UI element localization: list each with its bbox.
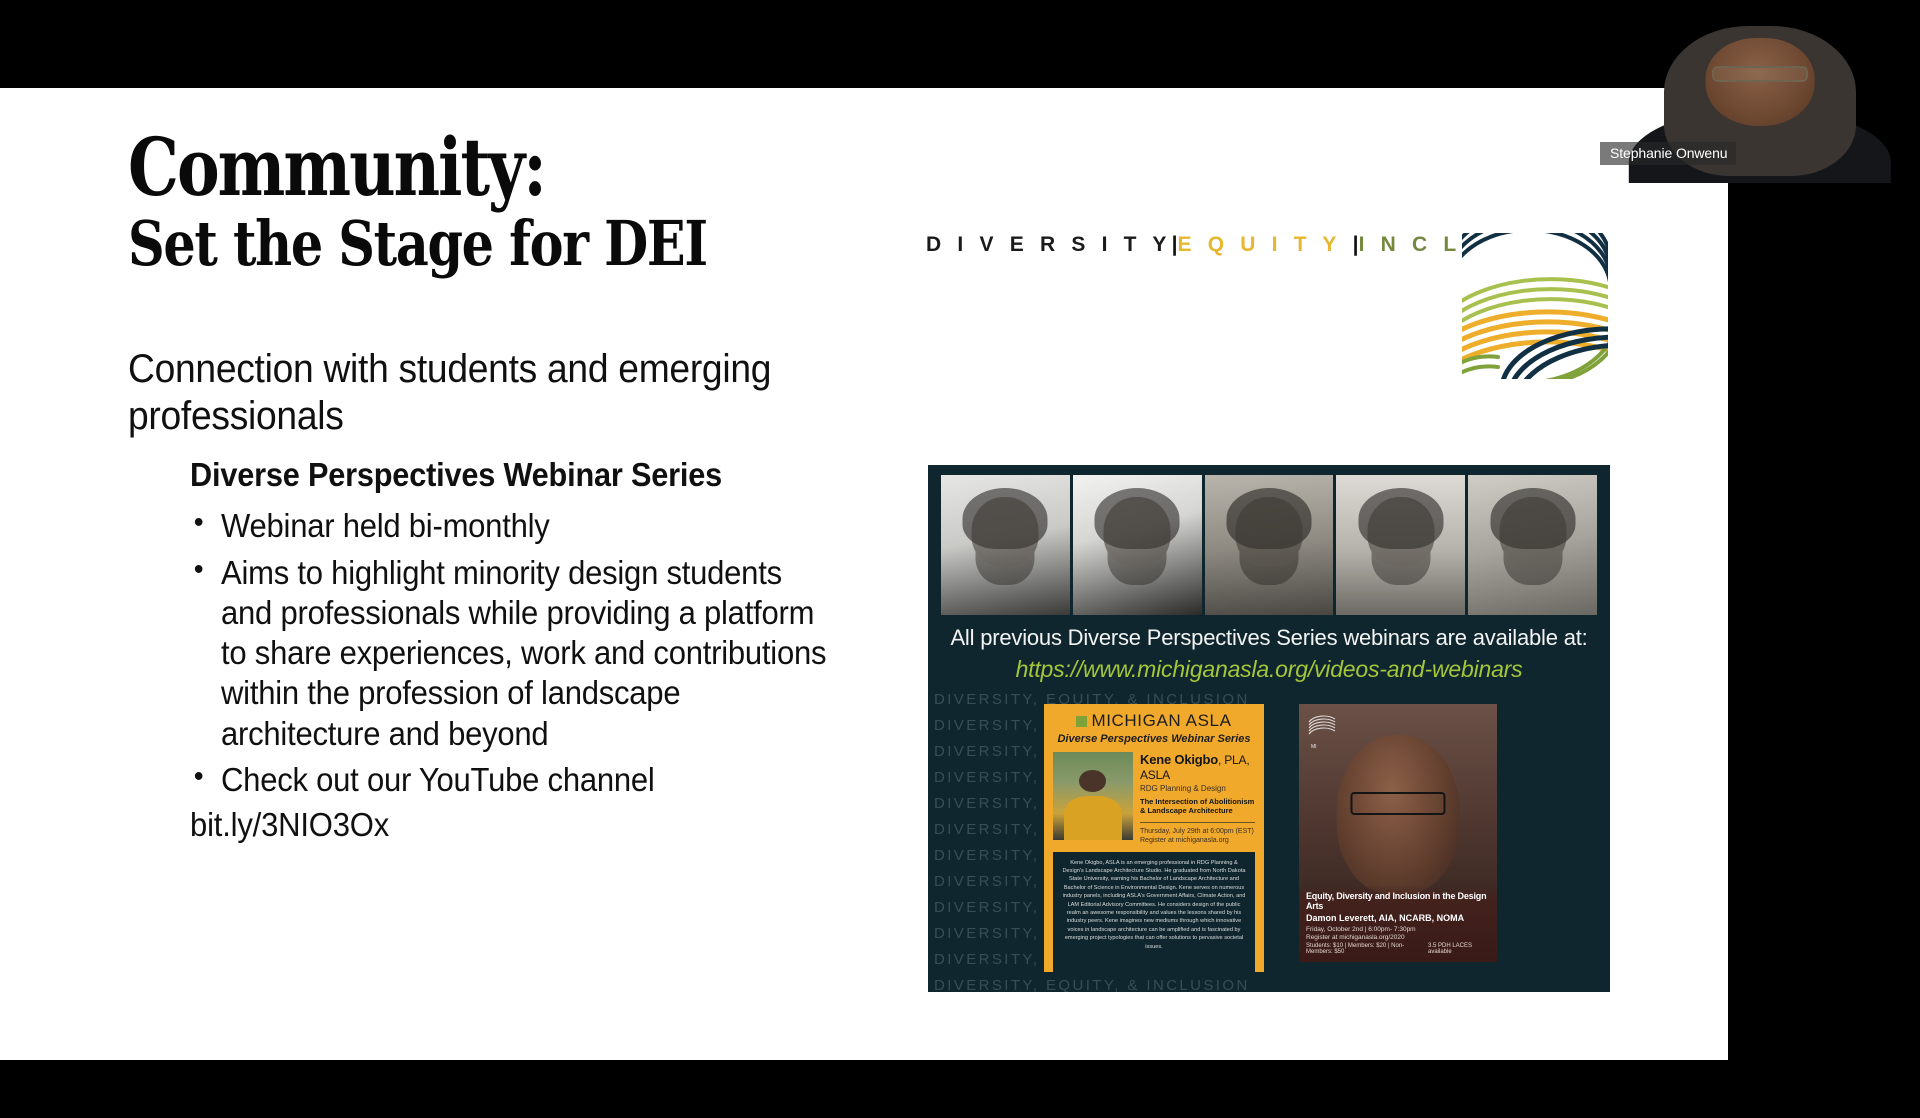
kene-okigbo-webinar-card: MICHIGAN ASLA Diverse Perspectives Webin… [1044,704,1264,972]
divider [1140,822,1255,823]
watermark-row: DIVERSITY, EQUITY, & INCLUSION [934,947,1610,973]
list-item: Check out our YouTube channel [190,760,829,800]
event-register: Register at michiganasla.org [1140,836,1255,845]
watermark-row: DIVERSITY, EQUITY, & INCLUSION [934,895,1610,921]
flyer-url: https://www.michiganasla.org/videos-and-… [928,656,1610,683]
speaker-bio: Kene Okigbo, ASLA is an emerging profess… [1053,852,1255,972]
watermark-row: DIVERSITY, EQUITY, & INCLUSION [934,843,1610,869]
wordmark-equity: E Q U I T Y [1177,233,1341,256]
watermark-row: DIVERSITY, EQUITY, & INCLUSION [934,973,1610,992]
speaker-name: Damon Leverett, AIA, NCARB, NOMA [1306,913,1490,923]
watermark-row: DIVERSITY, EQUITY, & INCLUSION [934,817,1610,843]
michigan-asla-logo-icon [1462,233,1608,379]
participant-face [1706,38,1815,126]
speaker-portrait [1337,735,1460,895]
event-datetime: Thursday, July 29th at 6:00pm (EST) [1140,827,1255,836]
slide-canvas: Community: Set the Stage for DEI Connect… [0,88,1728,1060]
list-item: Webinar held bi-monthly [190,506,829,546]
mi-logo-label: MI [1311,744,1317,750]
watermark-row: DIVERSITY, EQUITY, & INCLUSION [934,869,1610,895]
body-sub-heading: Diverse Perspectives Webinar Series [190,456,839,494]
watermark-row: DIVERSITY, EQUITY, & INCLUSION [934,791,1610,817]
flyer-watermark: DIVERSITY, EQUITY, & INCLUSIONDIVERSITY,… [928,687,1610,992]
shortlink-text: bit.ly/3NIO3Ox [190,806,846,844]
headshot [1468,475,1597,615]
headshot [1205,475,1334,615]
page-title: Community: [128,128,752,206]
watermark-row: DIVERSITY, EQUITY, & INCLUSION [934,765,1610,791]
speaker-topic: The Intersection of Abolitionism & Lands… [1140,797,1255,816]
flyer-caption: All previous Diverse Perspectives Series… [928,625,1610,683]
participant-name-label: Stephanie Onwenu [1600,142,1736,165]
bullet-list: Webinar held bi-monthly Aims to highligh… [190,506,888,800]
headshot [941,475,1070,615]
glasses-icon [1712,66,1808,82]
list-item: Aims to highlight minority design studen… [190,553,829,754]
headshot [1073,475,1202,615]
speaker-info: Kene Okigbo, PLA, ASLA RDG Planning & De… [1140,752,1255,846]
lead-paragraph: Connection with students and emerging pr… [128,346,835,440]
participant-video-tile[interactable]: Stephanie Onwenu [1600,0,1920,183]
diverse-perspectives-flyer-image: All previous Diverse Perspectives Series… [928,465,1610,992]
glasses-icon [1350,792,1445,815]
speaker-firm: RDG Planning & Design [1140,784,1255,793]
michigan-asla-brand: MICHIGAN ASLA [1053,711,1255,731]
watermark-row: DIVERSITY, EQUITY, & INCLUSION [934,713,1610,739]
slide-body: Connection with students and emerging pr… [128,346,888,844]
watermark-row: DIVERSITY, EQUITY, & INCLUSION [934,739,1610,765]
slide-title-block: Community: Set the Stage for DEI [128,128,908,279]
event-title: Equity, Diversity and Inclusion in the D… [1306,891,1490,911]
presentation-stage: Community: Set the Stage for DEI Connect… [0,0,1920,1118]
brand-text: MICHIGAN ASLA [1091,711,1231,730]
speaker-name: Kene Okigbo [1140,752,1218,767]
wordmark-diversity: D I V E R S I T Y [926,233,1172,256]
speaker-row: Kene Okigbo, PLA, ASLA RDG Planning & De… [1053,752,1255,846]
headshot [1336,475,1465,615]
mi-logo-icon [1307,712,1337,742]
brand-subtitle: Diverse Perspectives Webinar Series [1053,733,1255,745]
watermark-row: DIVERSITY, EQUITY, & INCLUSION [934,687,1610,713]
brand-square-icon [1076,716,1087,727]
damon-leverett-webinar-card: MI Equity, Diversity and Inclusion in th… [1299,704,1497,962]
event-register: Register at michiganasla.org/2020 [1306,934,1490,941]
event-details: Equity, Diversity and Inclusion in the D… [1299,885,1497,962]
speaker-portrait [1053,752,1133,840]
event-fees: Students: $10 | Members: $20 | Non-Membe… [1306,943,1428,955]
watermark-row: DIVERSITY, EQUITY, & INCLUSION [934,921,1610,947]
event-credits: 3.5 PDH LACES available [1428,943,1490,955]
page-subtitle: Set the Stage for DEI [128,210,768,278]
flyer-caption-line: All previous Diverse Perspectives Series… [928,625,1610,651]
event-datetime: Friday, October 2nd | 6:00pm- 7:30pm [1306,926,1490,933]
speaker-headshot-strip [941,475,1597,615]
